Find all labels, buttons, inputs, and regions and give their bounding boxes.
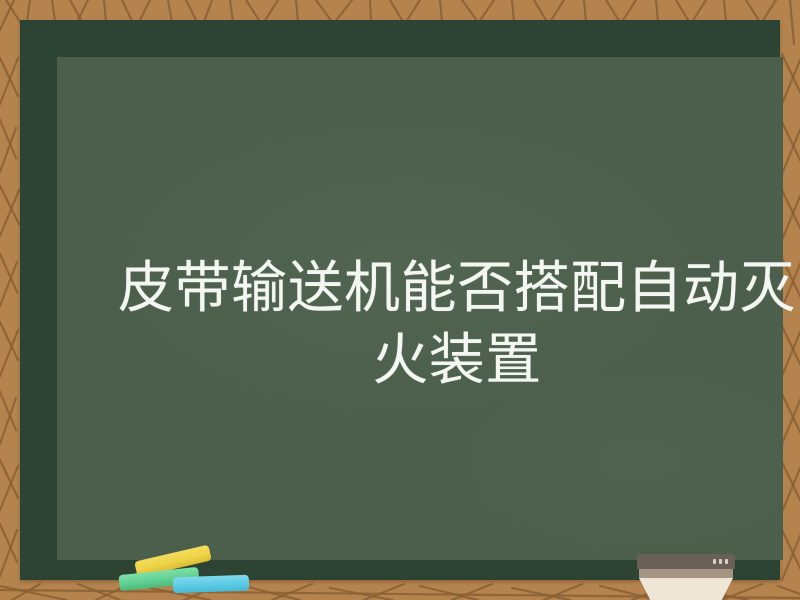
chalkboard-surface: 皮带输送机能否搭配自动灭火装置 — [57, 57, 783, 560]
board-eraser — [637, 554, 735, 600]
chalk-blue — [173, 575, 250, 594]
eraser-felt — [639, 578, 733, 600]
eraser-dot — [713, 559, 716, 564]
chalkboard-frame: 皮带输送机能否搭配自动灭火装置 — [20, 20, 780, 580]
chalkboard-headline: 皮带输送机能否搭配自动灭火装置 — [94, 253, 800, 397]
chalk-sticks — [117, 543, 237, 600]
chalkboard-scene: 皮带输送机能否搭配自动灭火装置 — [0, 0, 800, 600]
eraser-dots — [713, 559, 728, 564]
eraser-dot — [719, 559, 722, 564]
eraser-band — [639, 569, 733, 578]
eraser-handle — [637, 554, 735, 569]
eraser-dot — [725, 559, 728, 564]
